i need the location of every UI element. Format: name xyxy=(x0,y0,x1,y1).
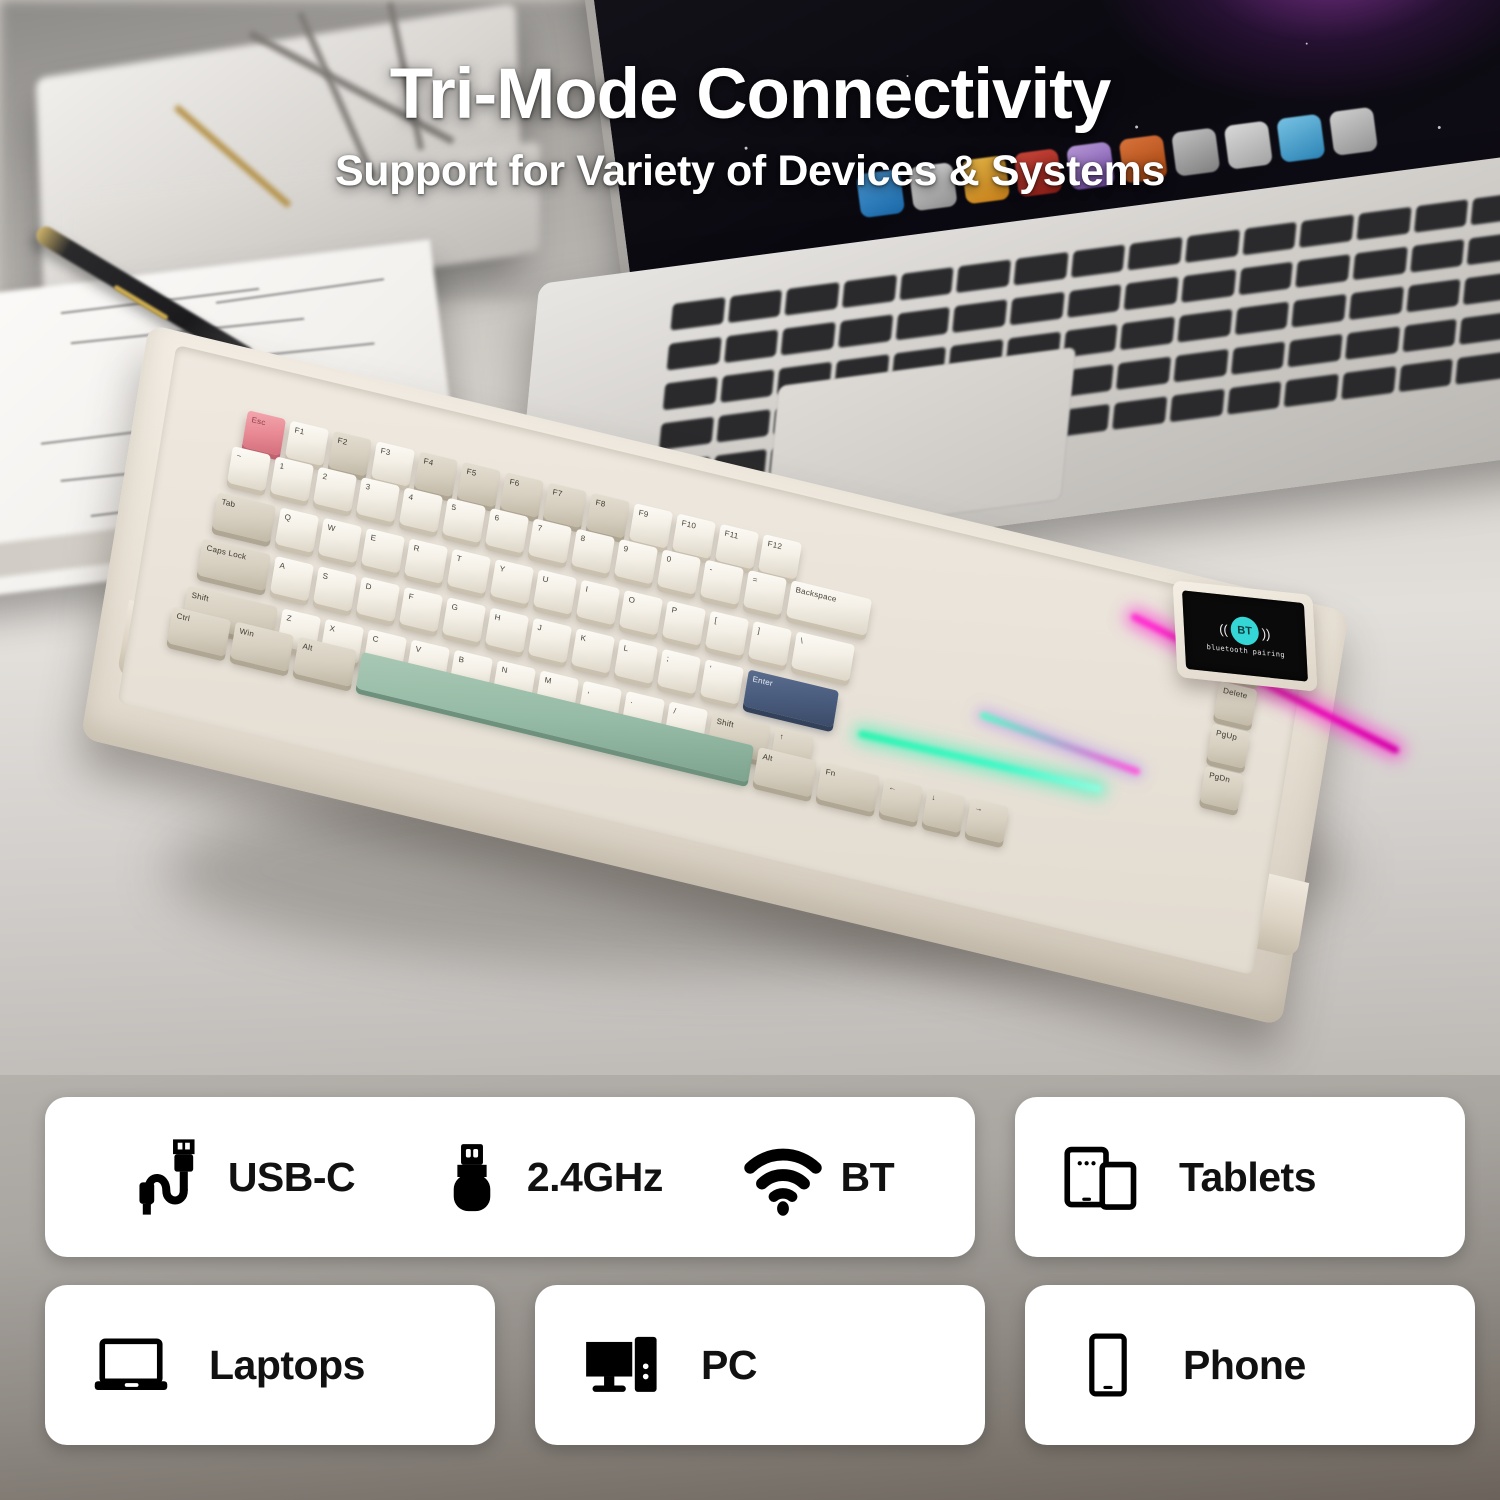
bluetooth-status-text: bluetooth pairing xyxy=(1206,643,1285,659)
signal-wave-right-icon: )) xyxy=(1261,626,1270,640)
card-laptops[interactable]: Laptops xyxy=(45,1285,495,1445)
feature-bt-label: BT xyxy=(841,1154,895,1201)
desktop-pc-icon xyxy=(581,1324,663,1406)
usb-dongle-icon xyxy=(433,1138,511,1216)
feature-pc-label: PC xyxy=(701,1342,757,1389)
feature-usb-c-label: USB-C xyxy=(228,1154,355,1201)
bt-badge-icon: BT xyxy=(1230,615,1259,646)
feature-24ghz[interactable]: 2.4GHz xyxy=(433,1138,663,1216)
key-delete[interactable]: Delete xyxy=(1213,681,1257,727)
feature-laptops-label: Laptops xyxy=(209,1342,365,1389)
bluetooth-display-screen: (( BT )) bluetooth pairing xyxy=(1182,590,1308,681)
signal-wave-left-icon: (( xyxy=(1219,622,1228,636)
bluetooth-signal-icon xyxy=(741,1135,825,1219)
feature-bt[interactable]: BT xyxy=(741,1135,895,1219)
feature-card-grid: USB-C 2.4GHz BT xyxy=(0,1075,1500,1500)
feature-tablets-label: Tablets xyxy=(1179,1154,1316,1201)
feature-row-bottom: Laptops PC Phone xyxy=(45,1285,1455,1445)
phone-icon xyxy=(1071,1328,1145,1402)
mechanical-keyboard: Esc F1 F2 F3 F4 F5 F6 F7 F8 F9 F10 F11 F… xyxy=(95,440,1375,1020)
feature-phone-label: Phone xyxy=(1183,1342,1306,1389)
bluetooth-display-module[interactable]: (( BT )) bluetooth pairing xyxy=(1173,580,1318,691)
bluetooth-pairing-indicator: (( BT )) xyxy=(1218,614,1271,648)
feature-usb-c[interactable]: USB-C xyxy=(126,1134,355,1220)
card-connectivity[interactable]: USB-C 2.4GHz BT xyxy=(45,1097,975,1257)
card-phone[interactable]: Phone xyxy=(1025,1285,1475,1445)
laptop-icon xyxy=(91,1325,171,1405)
feature-row-top: USB-C 2.4GHz BT xyxy=(45,1097,1455,1257)
hero-product-photo: Esc F1 F2 F3 F4 F5 F6 F7 F8 F9 F10 F11 F… xyxy=(0,0,1500,1075)
key-pgup[interactable]: PgUp xyxy=(1207,723,1251,769)
tablet-phone-icon xyxy=(1061,1137,1141,1217)
card-pc[interactable]: PC xyxy=(535,1285,985,1445)
card-tablets[interactable]: Tablets xyxy=(1015,1097,1465,1257)
feature-24ghz-label: 2.4GHz xyxy=(527,1154,663,1201)
usb-cable-icon xyxy=(126,1134,212,1220)
